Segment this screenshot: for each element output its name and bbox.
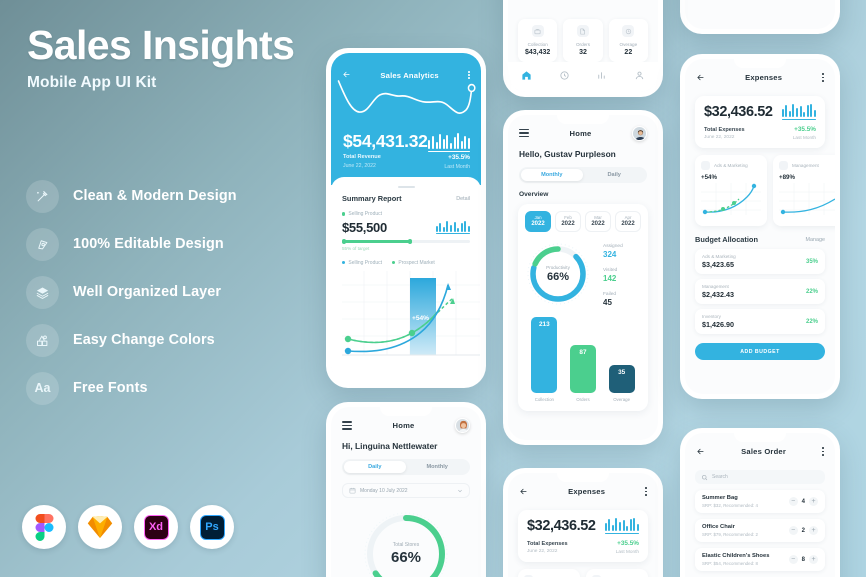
- search-input[interactable]: Search: [695, 470, 825, 484]
- figma-logo: [22, 505, 66, 549]
- feature-list: Clean & Modern Design 100% Editable Desi…: [26, 172, 326, 412]
- quantity-value: 8: [802, 557, 805, 563]
- nav-title: Sales Order: [741, 447, 786, 456]
- phone-notch: [380, 53, 432, 62]
- photoshop-logo: Ps: [190, 505, 234, 549]
- budget-percent: 22%: [806, 289, 818, 295]
- feature-label: Free Fonts: [73, 380, 148, 396]
- mini-card-ads-marketing[interactable]: Ads & Marketing: [518, 569, 580, 577]
- briefcase-icon: [532, 25, 544, 37]
- mini-card-title: Ads & Marketing: [714, 163, 748, 168]
- feature-label: Easy Change Colors: [73, 332, 215, 348]
- stat-card-collection[interactable]: Collection $43,432: [518, 19, 557, 62]
- summary-detail-link[interactable]: Detail: [456, 196, 470, 202]
- target-progress-bar[interactable]: [342, 240, 470, 243]
- overview-card: Jan 2022 Feb 2022 Mar 2022 Apr 2022: [518, 204, 648, 411]
- nav-title: Expenses: [745, 73, 782, 82]
- month-year: 2022: [556, 221, 580, 227]
- mini-card-chart: [779, 183, 835, 217]
- pen-tool-icon: [26, 228, 59, 261]
- total-expenses-card: $32,436.52 Total Expens: [695, 96, 825, 148]
- screen-home-daily: Home Hi, Linguina Nettlewater Daily Mont…: [331, 407, 481, 577]
- month-selector: Jan 2022 Feb 2022 Mar 2022 Apr 2022: [525, 211, 641, 232]
- budget-title: Budget Allocation: [695, 235, 758, 244]
- month-year: 2022: [586, 221, 610, 227]
- chevron-down-icon: [457, 488, 463, 494]
- legend-prospect-market: Prospect Market: [392, 260, 435, 266]
- phone-mockup-chart-partial: [680, 0, 840, 34]
- bar-overage: 35: [609, 365, 635, 393]
- mini-card-percent: +89%: [779, 174, 835, 181]
- phone-notch: [380, 407, 432, 416]
- phone-mockup-sales-analytics: Sales Analytics $54,431.32: [326, 48, 486, 388]
- order-item-name: Summer Bag: [702, 495, 758, 501]
- legend-label: Selling Product: [348, 260, 382, 266]
- total-expenses-card: $32,436.52 Total Expens: [518, 510, 648, 562]
- hamburger-menu-icon[interactable]: [519, 129, 529, 138]
- expenses-amount: $32,436.52: [704, 104, 773, 120]
- tab-daily[interactable]: Daily: [344, 461, 406, 474]
- back-icon[interactable]: [519, 483, 528, 501]
- period-segmented-control: Daily Monthly: [342, 459, 470, 475]
- budget-value: $2,432.43: [702, 290, 734, 299]
- bottom-tab-bar: [508, 62, 658, 92]
- more-options-icon[interactable]: [645, 487, 647, 495]
- analytics-header: Sales Analytics $54,431.32: [331, 53, 481, 185]
- feature-item-organized: Well Organized Layer: [26, 268, 326, 316]
- stat-failed: Failed 45: [603, 292, 641, 307]
- screen-expenses-partial: Expenses $32,436.52: [508, 473, 658, 577]
- axis-label: Overage: [607, 397, 637, 402]
- metric-label: Total Revenue: [343, 154, 381, 160]
- nav-title: Home: [570, 129, 592, 138]
- avatar[interactable]: [455, 418, 470, 433]
- budget-allocation-section: Budget Allocation Manage Ads & Marketing…: [695, 235, 825, 334]
- summary-amount: $55,500: [342, 220, 387, 235]
- add-budget-button[interactable]: ADD BUDGET: [695, 343, 825, 360]
- tab-history[interactable]: [559, 68, 570, 86]
- bar-chart-axis-labels: Collection Orders Overage: [525, 397, 641, 402]
- legend-label: Selling Product: [348, 211, 382, 217]
- productivity-donut: Productivity 66%: [525, 241, 591, 307]
- mini-card-title: Management: [792, 163, 819, 168]
- increment-button[interactable]: +: [809, 555, 818, 564]
- change-percent: +35.5%: [448, 154, 470, 161]
- legend-selling-product: Selling Product: [342, 211, 470, 217]
- stat-label: Failed: [603, 292, 641, 297]
- greeting-text: Hello, Gustav Purpleson: [508, 145, 658, 159]
- budget-label: Management: [702, 284, 734, 289]
- decrement-button[interactable]: −: [789, 555, 798, 564]
- phone-mockup-stats-tabbar: Collection $43,432 Orders 32: [503, 0, 663, 97]
- adobe-xd-logo: Xd: [134, 505, 178, 549]
- tab-profile[interactable]: [634, 68, 645, 86]
- overview-bar-chart: 213 87 35: [525, 315, 641, 393]
- phone-notch: [557, 473, 609, 482]
- page-subtitle: Mobile App UI Kit: [27, 74, 327, 92]
- stat-label: Visited: [603, 268, 641, 273]
- stat-value: 22: [612, 49, 645, 56]
- bar-value: 87: [570, 349, 596, 356]
- stat-label: Collection: [521, 42, 554, 47]
- change-percent: +35.5%: [793, 126, 816, 133]
- stat-card-row: Collection $43,432 Orders 32: [508, 19, 658, 62]
- screen-expenses-full: Expenses $32,436.52: [685, 59, 835, 394]
- list-item[interactable]: Summer Bag SRP: $32, Recommended: 4 − 4 …: [695, 490, 825, 513]
- megaphone-icon: [701, 161, 710, 170]
- quantity-value: 4: [802, 499, 805, 505]
- screen-stats-tabbar: Collection $43,432 Orders 32: [508, 0, 658, 92]
- feature-item-fonts: Aa Free Fonts: [26, 364, 326, 412]
- metric-date: June 22, 2022: [704, 135, 745, 140]
- expenses-sparkline: [605, 518, 639, 534]
- poster-canvas: Sales Insights Mobile App UI Kit Clean &…: [0, 0, 866, 577]
- bar-callout: +54%: [412, 315, 429, 322]
- gauge-value: 66%: [547, 271, 569, 283]
- budget-label: Inventory: [702, 314, 734, 319]
- budget-value: $1,426.90: [702, 320, 734, 329]
- order-item-detail: SRP: $32, Recommended: 4: [702, 503, 758, 508]
- revenue-line-chart: [331, 75, 481, 131]
- increment-button[interactable]: +: [809, 497, 818, 506]
- avatar[interactable]: [632, 126, 647, 141]
- revenue-sparkline-bars: [428, 133, 470, 152]
- hero-block: Sales Insights Mobile App UI Kit: [27, 24, 327, 92]
- stat-label: Overage: [612, 42, 645, 47]
- stat-value: $43,432: [521, 49, 554, 56]
- bar-collection: 213: [531, 317, 557, 393]
- more-options-icon[interactable]: [822, 447, 824, 455]
- summary-header: Summary Report Detail: [342, 194, 470, 203]
- feature-label: Clean & Modern Design: [73, 188, 237, 204]
- month-chip-mar[interactable]: Mar 2022: [585, 211, 611, 232]
- greeting-text: Hi, Linguina Nettlewater: [331, 437, 481, 451]
- selling-product-block: Selling Product $55,500: [342, 211, 470, 251]
- stat-value: 324: [603, 250, 641, 259]
- month-chip-feb[interactable]: Feb 2022: [555, 211, 581, 232]
- stat-value: 32: [566, 49, 599, 56]
- month-name: Feb: [556, 215, 580, 220]
- phone-mockup-home-daily: Home Hi, Linguina Nettlewater Daily Mont…: [326, 402, 486, 577]
- month-year: 2022: [616, 221, 640, 227]
- phone-mockup-expenses-full: Expenses $32,436.52: [680, 54, 840, 399]
- quantity-value: 2: [802, 528, 805, 534]
- tab-reports[interactable]: [596, 68, 607, 86]
- sheet-grabber[interactable]: [398, 186, 415, 188]
- calendar-icon: [349, 487, 356, 494]
- change-percent: +35.5%: [616, 540, 639, 547]
- list-item[interactable]: Office Chair SRP: $79, Recommended: 2 − …: [695, 519, 825, 542]
- phone-mockup-expenses-partial: Expenses $32,436.52: [503, 468, 663, 577]
- month-year: 2022: [526, 221, 550, 227]
- summary-sparkline: [436, 221, 470, 235]
- adobe-xd-label: Xd: [144, 515, 169, 540]
- change-period: Last Month: [793, 135, 816, 140]
- productivity-stats: Assigned 324 Visited 142 Failed 45: [591, 242, 641, 307]
- mini-card-management[interactable]: Management +89%: [773, 155, 835, 226]
- change-period: Last Month: [444, 164, 470, 170]
- budget-row-inventory[interactable]: Inventory $1,426.90 22%: [695, 309, 825, 334]
- change-period: Last Month: [616, 549, 639, 554]
- stat-card-overage[interactable]: Overage 22: [609, 19, 648, 62]
- page-title: Sales Insights: [27, 24, 327, 67]
- metric-date: June 22, 2022: [527, 549, 568, 554]
- summary-report-sheet: Summary Report Detail Selling Product $5…: [331, 177, 481, 383]
- category-mini-cards: Ads & Marketing Management: [518, 569, 648, 577]
- photoshop-label: Ps: [200, 515, 225, 540]
- nav-title: Home: [393, 421, 415, 430]
- magic-wand-icon: [26, 180, 59, 213]
- budget-label: Ads & Marketing: [702, 254, 736, 259]
- quantity-stepper: − 8 +: [789, 555, 818, 564]
- budget-row-management[interactable]: Management $2,432.43 22%: [695, 279, 825, 304]
- total-stores-gauge: Total Stores 66%: [360, 508, 452, 577]
- settings-icon: [779, 161, 788, 170]
- stat-value: 142: [603, 274, 641, 283]
- bar-value: 213: [531, 321, 557, 328]
- date-filter-dropdown[interactable]: Monday 10 July 2022: [342, 483, 470, 498]
- file-icon: [577, 25, 589, 37]
- mini-card-chart: [701, 183, 761, 217]
- budget-percent: 22%: [806, 319, 818, 325]
- order-item-name: Elastic Children's Shoes: [702, 553, 769, 559]
- metric-label: Total Expenses: [704, 127, 745, 133]
- progress-note: 55% of target: [342, 246, 470, 251]
- feature-item-editable: 100% Editable Design: [26, 220, 326, 268]
- feature-label: 100% Editable Design: [73, 236, 224, 252]
- gauge-label: Total Stores: [393, 542, 419, 548]
- order-item-detail: SRP: $79, Recommended: 2: [702, 532, 758, 537]
- category-mini-cards: Ads & Marketing +54%: [695, 155, 825, 226]
- budget-manage-link[interactable]: Manage: [806, 237, 825, 243]
- expenses-sparkline: [782, 104, 816, 120]
- budget-percent: 35%: [806, 259, 818, 265]
- back-icon[interactable]: [696, 69, 705, 87]
- date-filter-value: Monday 10 July 2022: [360, 488, 453, 494]
- growth-chart: +54%: [342, 271, 470, 368]
- stat-value: 45: [603, 298, 641, 307]
- metric-date: June 22, 2022: [343, 163, 376, 169]
- sketch-logo: [78, 505, 122, 549]
- month-name: Apr: [616, 215, 640, 220]
- phone-notch: [557, 115, 609, 124]
- phone-mockup-sales-order: Sales Order Search Summer Bag SRP: $32, …: [680, 428, 840, 577]
- legend-selling-product-2: Selling Product: [342, 260, 382, 266]
- stat-visited: Visited 142: [603, 268, 641, 283]
- feature-label: Well Organized Layer: [73, 284, 221, 300]
- font-icon: Aa: [26, 372, 59, 405]
- phone-notch: [734, 433, 786, 442]
- list-item[interactable]: Elastic Children's Shoes SRP: $54, Recom…: [695, 548, 825, 571]
- expenses-amount: $32,436.52: [527, 518, 596, 534]
- mini-card-percent: +54%: [701, 174, 761, 181]
- search-icon: [701, 474, 708, 481]
- increment-button[interactable]: +: [809, 526, 818, 535]
- tab-monthly[interactable]: Monthly: [406, 461, 468, 474]
- screen-chart-partial: [685, 0, 835, 29]
- screen-sales-analytics: Sales Analytics $54,431.32: [331, 53, 481, 383]
- decrement-button[interactable]: −: [789, 497, 798, 506]
- total-revenue-amount: $54,431.32: [343, 131, 428, 152]
- bar-value: 35: [609, 369, 635, 376]
- back-icon[interactable]: [696, 443, 705, 461]
- budget-row-ads[interactable]: Ads & Marketing $3,423.65 35%: [695, 249, 825, 274]
- tab-home[interactable]: [521, 68, 532, 86]
- month-name: Jan: [526, 215, 550, 220]
- hamburger-menu-icon[interactable]: [342, 421, 352, 430]
- font-icon-glyph: Aa: [35, 381, 51, 395]
- quantity-stepper: − 4 +: [789, 497, 818, 506]
- period-segmented-control: Monthly Daily: [519, 167, 647, 183]
- more-options-icon[interactable]: [822, 73, 824, 81]
- section-title-overview: Overview: [508, 183, 658, 198]
- axis-label: Collection: [529, 397, 559, 402]
- feature-item-colors: Easy Change Colors: [26, 316, 326, 364]
- phone-mockup-home-monthly: Home Hello, Gustav Purpleson Monthly Dai…: [503, 110, 663, 445]
- legend-label: Prospect Market: [398, 260, 434, 266]
- stat-label: Assigned: [603, 244, 641, 249]
- stat-assigned: Assigned 324: [603, 244, 641, 259]
- gauge-label: Productivity: [546, 265, 570, 270]
- axis-label: Orders: [568, 397, 598, 402]
- productivity-row: Productivity 66% Assigned 324 Visited 14…: [525, 241, 641, 307]
- search-placeholder: Search: [712, 474, 728, 480]
- mini-card-management[interactable]: Management: [586, 569, 648, 577]
- stat-card-orders[interactable]: Orders 32: [563, 19, 602, 62]
- tab-monthly[interactable]: Monthly: [521, 169, 583, 182]
- quantity-stepper: − 2 +: [789, 526, 818, 535]
- decrement-button[interactable]: −: [789, 526, 798, 535]
- budget-value: $3,423.65: [702, 260, 736, 269]
- mini-card-ads-marketing[interactable]: Ads & Marketing +54%: [695, 155, 767, 226]
- month-chip-jan[interactable]: Jan 2022: [525, 211, 551, 232]
- stat-label: Orders: [566, 42, 599, 47]
- order-item-name: Office Chair: [702, 524, 758, 530]
- month-name: Mar: [586, 215, 610, 220]
- screen-sales-order: Sales Order Search Summer Bag SRP: $32, …: [685, 433, 835, 577]
- color-swatch-icon: [26, 324, 59, 357]
- nav-title: Expenses: [568, 487, 605, 496]
- feature-item-clean-modern: Clean & Modern Design: [26, 172, 326, 220]
- gauge-value: 66%: [391, 549, 421, 566]
- summary-title: Summary Report: [342, 194, 402, 203]
- chart-legend-row: Selling Product Prospect Market: [342, 260, 470, 266]
- phone-notch: [734, 59, 786, 68]
- metric-label: Total Expenses: [527, 541, 568, 547]
- layers-icon: [26, 276, 59, 309]
- month-chip-apr[interactable]: Apr 2022: [615, 211, 641, 232]
- bar-orders: 87: [570, 345, 596, 393]
- screen-home-monthly: Home Hello, Gustav Purpleson Monthly Dai…: [508, 115, 658, 440]
- app-format-list: Xd Ps: [22, 505, 234, 549]
- order-item-detail: SRP: $54, Recommended: 8: [702, 561, 769, 566]
- tab-daily[interactable]: Daily: [583, 169, 645, 182]
- clock-icon: [622, 25, 634, 37]
